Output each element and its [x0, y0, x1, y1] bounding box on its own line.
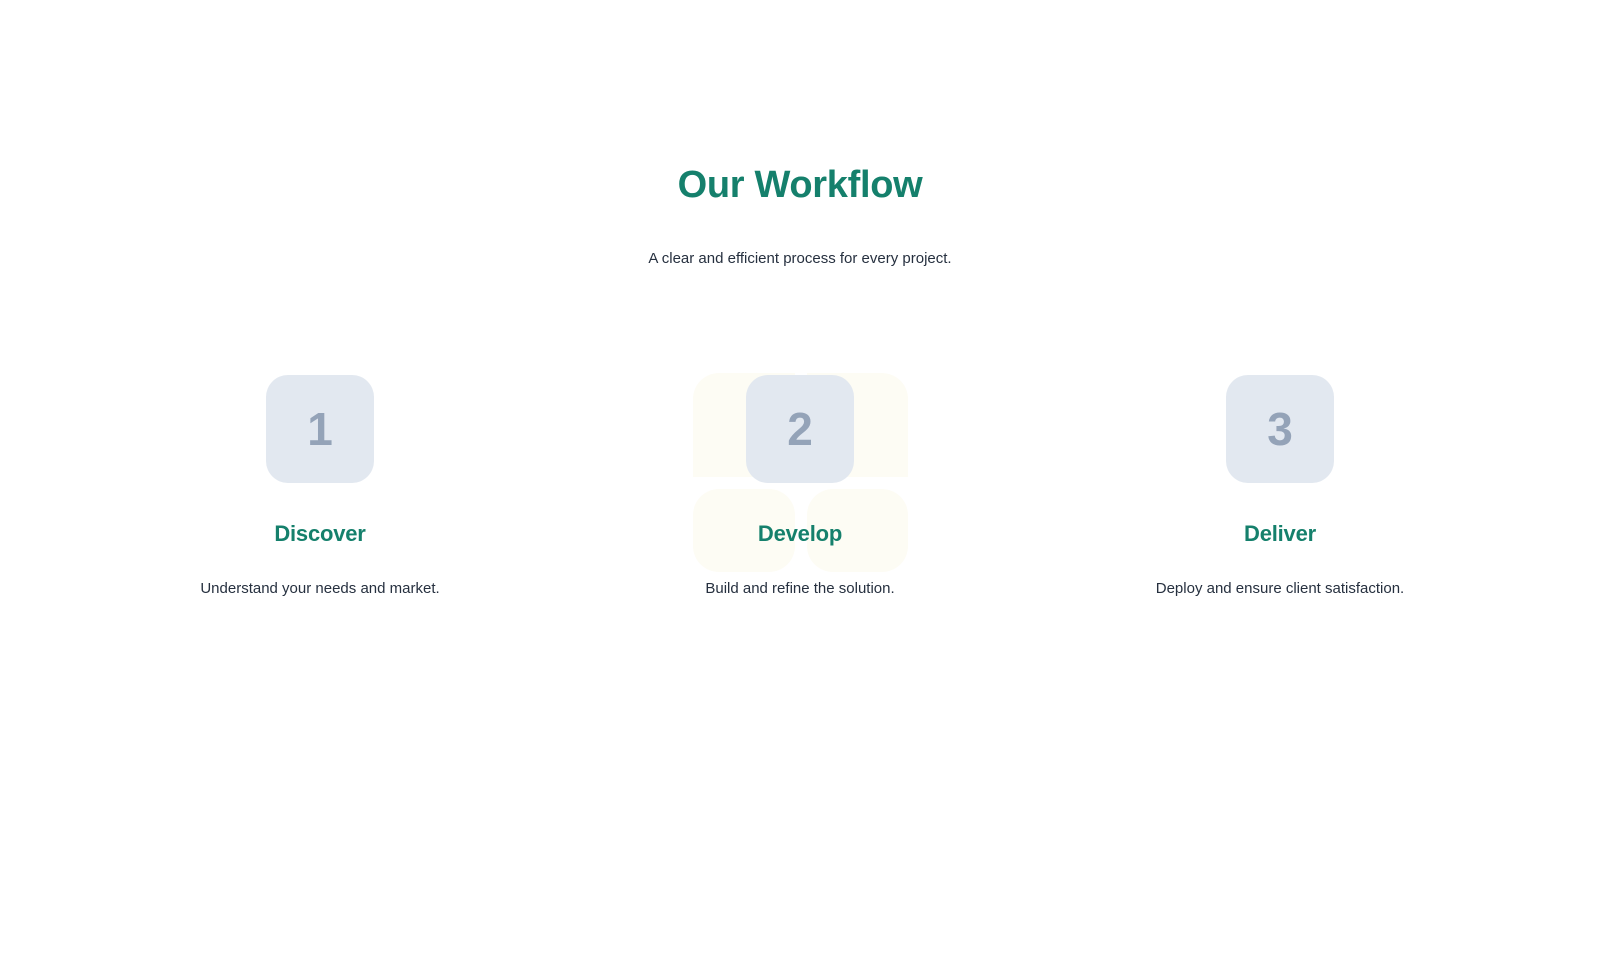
- workflow-section: Our Workflow A clear and efficient proce…: [0, 0, 1600, 978]
- page-title: Our Workflow: [0, 164, 1600, 208]
- workflow-step-3[interactable]: 3 Deliver Deploy and ensure client satis…: [1110, 375, 1450, 600]
- step-description-2: Build and refine the solution.: [705, 547, 894, 600]
- step-title-1: Discover: [274, 483, 365, 547]
- step-badge-1: 1: [266, 375, 374, 483]
- step-badge-3: 3: [1226, 375, 1334, 483]
- step-title-3: Deliver: [1244, 483, 1316, 547]
- section-header: Our Workflow A clear and efficient proce…: [0, 164, 1600, 270]
- step-number-1: 1: [307, 406, 333, 452]
- step-description-1: Understand your needs and market.: [200, 547, 439, 600]
- workflow-steps-row: 1 Discover Understand your needs and mar…: [150, 375, 1450, 600]
- step-number-3: 3: [1267, 406, 1293, 452]
- step-badge-2: 2: [746, 375, 854, 483]
- step-description-3: Deploy and ensure client satisfaction.: [1156, 547, 1404, 600]
- workflow-step-2[interactable]: 2 Develop Build and refine the solution.: [630, 375, 970, 600]
- workflow-step-1[interactable]: 1 Discover Understand your needs and mar…: [150, 375, 490, 600]
- step-number-2: 2: [787, 406, 813, 452]
- step-title-2: Develop: [758, 483, 842, 547]
- section-subtitle: A clear and efficient process for every …: [0, 208, 1600, 271]
